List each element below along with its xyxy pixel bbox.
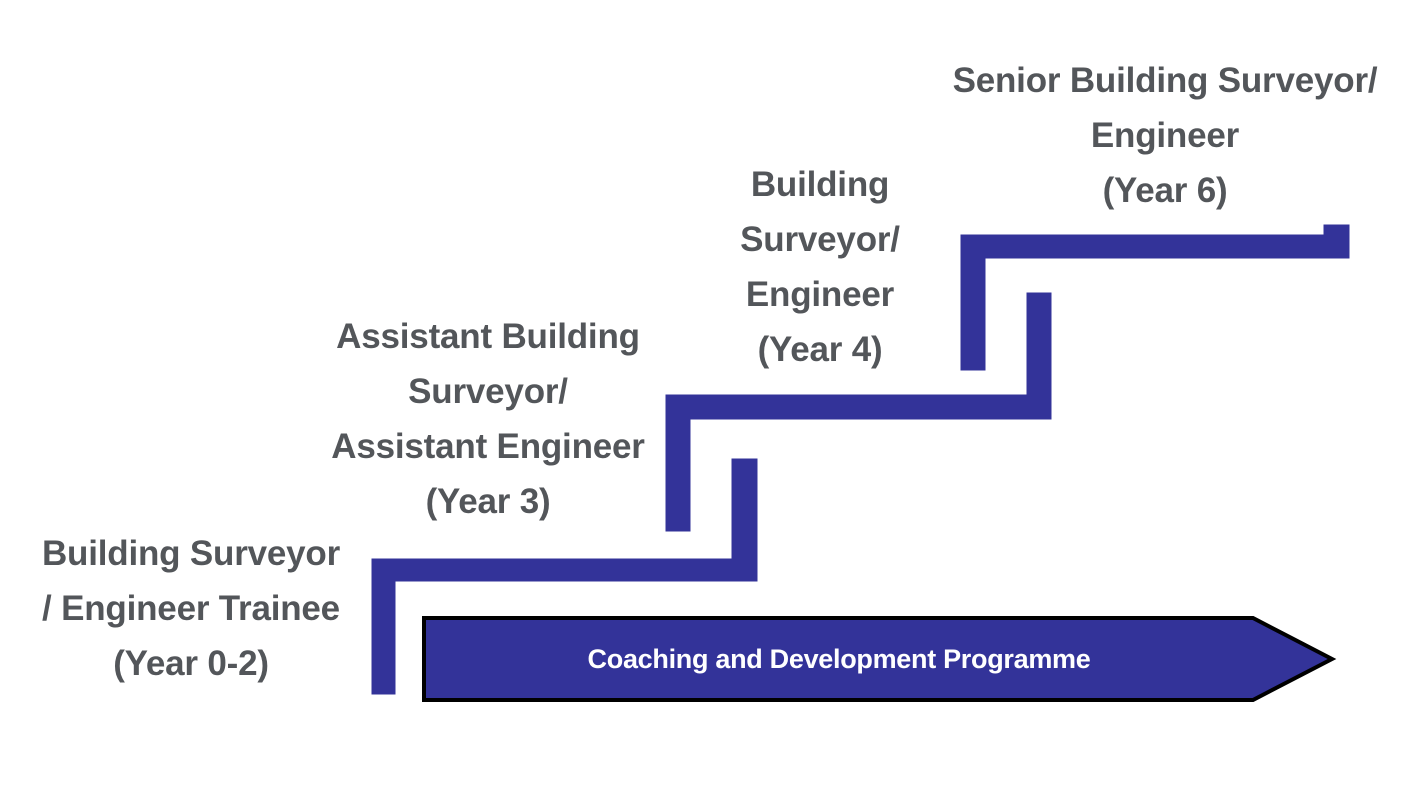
stage-label-trainee: Building Surveyor / Engineer Trainee (Ye… [6, 527, 376, 692]
stage-label-assistant: Assistant Building Surveyor/ Assistant E… [302, 310, 674, 530]
stage-label-senior: Senior Building Surveyor/ Engineer (Year… [930, 54, 1400, 219]
staircase-path-step3 [960, 224, 1350, 371]
career-progression-diagram: Building Surveyor / Engineer Trainee (Ye… [0, 0, 1408, 793]
stage-label-surveyor: Building Surveyor/ Engineer (Year 4) [700, 158, 940, 378]
coaching-programme-label: Coaching and Development Programme [424, 618, 1254, 700]
